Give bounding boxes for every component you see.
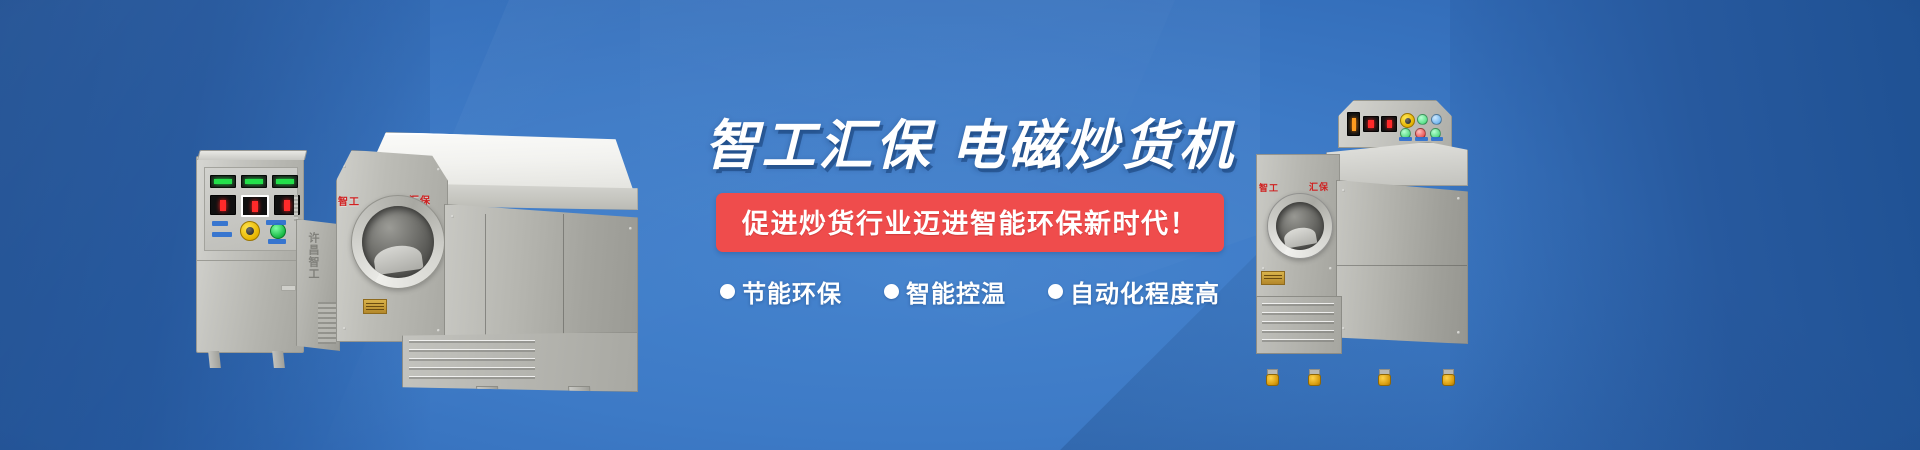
panel-label (1399, 137, 1412, 141)
bullet-dot-icon (720, 284, 735, 299)
panel-label (212, 221, 228, 226)
banner-copy-block: 智工汇保 电磁炒货机 促进炒货行业迈进智能环保新时代！ 节能环保 智能控温 自动… (660, 118, 1280, 309)
ventilation-louvers (409, 340, 535, 382)
feature-label: 智能控温 (906, 274, 1006, 309)
ventilation-louvers (1262, 303, 1334, 345)
cabinet-button-row (210, 220, 294, 244)
machine-base-skirt (402, 332, 638, 392)
feature-item-smart-temperature: 智能控温 (884, 274, 1006, 309)
panel-label (212, 232, 232, 237)
promo-banner: 许昌智工 智工 汇保 (0, 0, 1920, 450)
machine-leg (568, 386, 592, 415)
machine-drum-head: 智工 汇保 (336, 150, 448, 342)
panel-label (1415, 137, 1428, 141)
rivet (1329, 267, 1332, 270)
emergency-stop-icon (240, 221, 260, 241)
green-display-group (210, 175, 298, 188)
panel-label (1431, 137, 1443, 141)
rivet (1342, 327, 1345, 330)
product-image-right-machine: 智工 汇保 (1256, 100, 1486, 370)
feature-list: 节能环保 智能控温 自动化程度高 (660, 274, 1280, 309)
bullet-dot-icon (1048, 284, 1063, 299)
indicator-lamp (1431, 114, 1442, 125)
drum-interior (1276, 202, 1324, 250)
page-title: 智工汇保 电磁炒货机 (660, 118, 1280, 175)
cabinet-door-seam (197, 260, 303, 261)
body-seam (1337, 265, 1467, 266)
nameplate-sticker (363, 299, 387, 314)
rivet (1342, 189, 1345, 192)
cabinet-top-panel (197, 150, 307, 160)
meter-display (1363, 116, 1379, 132)
green-display (241, 175, 267, 188)
red-display (210, 195, 236, 215)
machine-front-doors (444, 204, 638, 354)
ribbon-container: 促进炒货行业迈进智能环保新时代！ (660, 193, 1280, 252)
feature-label: 自动化程度高 (1070, 274, 1220, 309)
rivet (437, 329, 440, 332)
product-image-left-machine: 许昌智工 智工 汇保 (196, 96, 636, 416)
emergency-stop-icon (1400, 113, 1415, 128)
right-machine-control-head (1338, 100, 1452, 148)
rivet (343, 165, 346, 168)
right-machine-body (1336, 180, 1468, 344)
cabinet-leg (272, 351, 285, 368)
right-control-panel (1347, 111, 1443, 139)
caster-wheel (1378, 369, 1389, 384)
feature-item-automation: 自动化程度高 (1048, 274, 1220, 309)
drum-opening-ring (351, 195, 445, 289)
cabinet-handle (281, 285, 296, 291)
machine-leg (476, 386, 500, 415)
tagline-ribbon: 促进炒货行业迈进智能环保新时代！ (716, 193, 1224, 252)
brand-text-left: 智工 (338, 193, 360, 208)
cabinet-control-panel (204, 167, 298, 251)
red-display-group (210, 195, 300, 217)
cabinet-leg (208, 351, 221, 368)
left-machine-side-module: 许昌智工 (296, 219, 340, 351)
feature-label: 节能环保 (742, 274, 842, 309)
caster-wheel (1266, 369, 1277, 384)
left-machine-body: 智工 汇保 (336, 132, 636, 394)
meter-display (1381, 116, 1397, 132)
panel-label (268, 239, 286, 244)
rivet (629, 227, 632, 230)
panel-label (266, 220, 286, 225)
door-seam (485, 214, 486, 350)
right-machine-top-plate (1326, 142, 1468, 186)
drum-interior (362, 206, 434, 278)
door-seam (563, 214, 564, 350)
brand-text-right: 汇保 (1309, 180, 1329, 193)
bullet-dot-icon (884, 284, 899, 299)
indicator-lamp (1417, 114, 1428, 125)
side-grill (318, 302, 336, 344)
rivet (1457, 197, 1460, 200)
meter-display (1347, 112, 1360, 136)
start-button-icon (270, 223, 286, 239)
feature-item-energy-saving: 节能环保 (720, 274, 842, 309)
rivet (343, 327, 346, 330)
rivet (437, 168, 440, 171)
caster-wheel (1442, 369, 1453, 384)
caster-wheel (1308, 369, 1319, 384)
rivet (451, 215, 454, 218)
cabinet-side-text: 许昌智工 (303, 232, 319, 280)
rivet (1457, 331, 1460, 334)
green-display (210, 175, 236, 188)
green-display (272, 175, 298, 188)
cabinet-vent (294, 195, 298, 221)
left-control-cabinet (196, 156, 304, 353)
red-display (241, 195, 269, 217)
